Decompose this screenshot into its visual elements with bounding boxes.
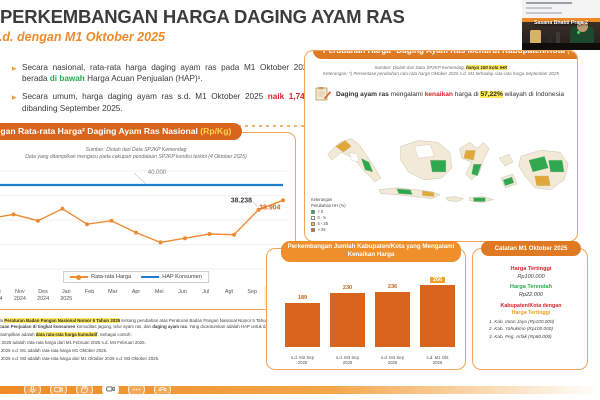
notes-card: Catatan M1 Oktober 2025 Harga Tertinggi … — [472, 248, 588, 370]
bar-value-label: 230 — [343, 285, 352, 291]
highest-price-label: Harga Tertinggi — [481, 265, 581, 273]
footnote-span: - M1 Oktober 2025 s.d. M3 adalah rata-ra… — [0, 356, 159, 361]
footnote-span: Harga Acuan Penjualan di tingkat konsume… — [0, 324, 75, 329]
legend-label: Rata-rata Harga — [91, 274, 131, 280]
x-tick-label: Apr — [124, 286, 147, 306]
participant-name-label: Sasana Bhakti Praja 2 — [522, 20, 600, 26]
x-tick-label: Jan2025 — [55, 286, 78, 306]
line-chart-source-2: Data yang ditampilkan mengacu pada cakup… — [0, 154, 295, 161]
bar-column: 230 — [330, 277, 365, 347]
bar-chart-bars: 189230236266 — [285, 277, 455, 347]
bar-value-label: 266 — [430, 277, 445, 283]
map-legend-title-2: Perubahan HH (%) — [311, 203, 346, 209]
footnote-span: - M4 Februari 2025 adalah rata-rata harg… — [0, 340, 146, 345]
toolbar-buttons — [24, 381, 171, 398]
bar-x-label: s.d. M1 Okt2025 — [420, 355, 455, 366]
list-item: 2. Kab. Yahukimo (Rp100.000) — [481, 325, 581, 333]
x-tick-label: Sep — [241, 286, 264, 306]
legend-swatch-line-icon — [70, 276, 88, 278]
map-title-main: Perubahan Harga* Daging Ayam Ras Menurut… — [323, 50, 567, 55]
page-subtitle: s.d. dengan M1 Oktober 2025 — [0, 30, 165, 44]
svg-text:38.238: 38.238 — [231, 198, 252, 205]
footnote-span: komoditas jagung, telur ayam ras, dan — [75, 324, 152, 329]
bullet-text: Secara umum, harga daging ayam ras s.d. … — [22, 91, 312, 113]
x-tick-label: Des2024 — [31, 286, 54, 306]
lowest-price-label: Harga Terendah — [481, 283, 581, 291]
map-legend: Keterangan Perubahan HH (%) < 00 - 55 - … — [311, 197, 346, 233]
desk-object-box — [530, 30, 541, 44]
line-chart-plot: 40.00038.23838.904 — [0, 165, 287, 273]
share-screen-button[interactable] — [102, 381, 119, 398]
map-legend-label: 5 - 25 — [318, 221, 328, 227]
map-legend-label: 0 - 5 — [318, 215, 326, 221]
raise-hand-button[interactable] — [76, 381, 93, 398]
footnote-span: data rata-rata harga kumulatif — [36, 332, 98, 337]
bar-chart-x-axis: s.d. M2 Sep2025s.d. M3 Sep2025s.d. M4 Se… — [285, 355, 455, 366]
desk-surface — [522, 43, 600, 50]
bullet-marker-icon: ▸ — [12, 91, 22, 113]
map-legend-row: 5 - 25 — [311, 221, 346, 227]
map-legend-swatch-icon — [311, 210, 315, 214]
map-key-post: wilayah di Indonesia — [503, 91, 564, 98]
map-card: Perubahan Harga* Daging Ayam Ras Menurut… — [304, 50, 578, 242]
x-tick-label: Okt2024 — [0, 286, 8, 306]
map-source-2: Keterangan: *) Persentase perubahan rata… — [309, 71, 573, 77]
video-feed — [522, 22, 600, 50]
bar-column: 189 — [285, 277, 320, 347]
line-chart-legend: Rata-rata Harga HAP Konsumen — [63, 271, 209, 283]
line-chart-title-main: Perkembangan Rata-rata Harga² Daging Aya… — [0, 126, 200, 136]
map-title: Perubahan Harga* Daging Ayam Ras Menurut… — [313, 50, 578, 59]
bar-x-label: s.d. M3 Sep2025 — [330, 355, 365, 366]
map-legend-items: < 00 - 55 - 25> 25 — [311, 209, 346, 233]
presentation-slide: PERKEMBANGAN HARGA DAGING AYAM RAS s.d. … — [0, 0, 600, 382]
line-chart-title-unit: (Rp/Kg) — [200, 126, 231, 136]
screen-share-icon — [106, 381, 115, 399]
line-chart-card: Perkembangan Rata-rata Harga² Daging Aya… — [0, 132, 296, 310]
map-legend-row: < 0 — [311, 209, 346, 215]
map-key-mid2: harga di — [453, 91, 481, 98]
legend-item-hap: HAP Konsumen — [141, 274, 202, 280]
page-title: PERKEMBANGAN HARGA DAGING AYAM RAS — [0, 6, 405, 28]
top-price-list: 1. Kab. Intan Jaya (Rp100.000)2. Kab. Ya… — [481, 318, 581, 341]
top-list-heading-1: Kabupaten/Kota dengan — [481, 303, 581, 310]
bullet-marker-icon: ▸ — [12, 62, 22, 84]
footnote-span: Peraturan Badan Pangan Nasional Nomor 6 … — [4, 318, 120, 323]
bar-column: 266 — [420, 277, 455, 347]
map-key-percent: 57,22% — [480, 91, 502, 98]
x-tick-label: Jun — [171, 286, 194, 306]
x-tick-label: Agt — [217, 286, 240, 306]
bar-chart-title: Perkembangan Jumlah Kabupaten/Kota yang … — [281, 241, 461, 262]
list-item: ▸ Secara nasional, rata-rata harga dagin… — [12, 62, 312, 84]
summary-bullets: ▸ Secara nasional, rata-rata harga dagin… — [12, 62, 312, 121]
map-key-mid: mengalami — [389, 91, 425, 98]
map-source: Sumber: Diolah dari Data SP2KP Kemendag,… — [309, 65, 573, 78]
x-tick-label: Jul — [194, 286, 217, 306]
dots-icon — [132, 381, 141, 399]
top-list-heading-2: Harga Tertinggi — [481, 310, 581, 317]
bullet-text-post: Harga Acuan Penjualan (HAP)¹. — [85, 74, 203, 83]
bar-value-label: 189 — [298, 295, 307, 301]
map-legend-swatch-icon — [311, 222, 315, 226]
bullet-text: Secara nasional, rata-rata harga daging … — [22, 62, 312, 84]
svg-text:40.000: 40.000 — [148, 170, 167, 176]
map-legend-swatch-icon — [311, 228, 315, 232]
x-tick-label: Feb — [78, 286, 101, 306]
x-tick-label: Mar — [101, 286, 124, 306]
line-chart-svg: 40.00038.23838.904 — [0, 165, 287, 273]
clipboard-icon — [315, 87, 331, 101]
meeting-toolbar — [0, 378, 600, 400]
map-source-1a: Sumber: Diolah dari Data SP2KP Kemendag, — [375, 65, 467, 70]
notes-card-title: Catatan M1 Oktober 2025 — [481, 241, 581, 256]
highest-price-value: Rp100.000 — [481, 273, 581, 281]
bar-x-label: s.d. M2 Sep2025 — [285, 355, 320, 366]
svg-text:38.904: 38.904 — [259, 204, 280, 211]
line-chart-source-1: Sumber: Diolah dari Data SP2KP Kemendag — [0, 147, 295, 154]
bullet-text-pre: Secara umum, harga daging ayam ras s.d. … — [22, 92, 268, 101]
bar-chart-card: Perkembangan Jumlah Kabupaten/Kota yang … — [266, 248, 466, 370]
more-options-button[interactable] — [128, 381, 145, 398]
mic-icon — [28, 381, 37, 399]
line-chart-title: Perkembangan Rata-rata Harga² Daging Aya… — [0, 123, 242, 140]
map-legend-label: > 25 — [318, 227, 326, 233]
map-key-text: Daging ayam ras mengalami kenaikan harga… — [336, 91, 564, 98]
notes-card-body: Harga Tertinggi Rp100.000 Harga Terendah… — [481, 265, 581, 341]
map-svg — [305, 103, 577, 241]
camera-icon — [54, 381, 63, 399]
bar-rect — [285, 303, 320, 347]
map-legend-row: 0 - 5 — [311, 215, 346, 221]
bullet-text-post: dibanding September 2025. — [22, 104, 123, 113]
line-chart-source: Sumber: Diolah dari Data SP2KP Kemendag … — [0, 147, 295, 162]
shared-doc-thumbnail — [522, 0, 600, 18]
map-legend-row: > 25 — [311, 227, 346, 233]
bar-rect — [330, 293, 365, 347]
bar-rect — [375, 292, 410, 347]
list-item: ▸ Secara umum, harga daging ayam ras s.d… — [12, 91, 312, 113]
map-title-unit: (%) — [567, 50, 578, 55]
legend-label: HAP Konsumen — [162, 274, 202, 280]
bar-column: 236 — [375, 277, 410, 347]
footnote-span: . Sebagai contoh: — [97, 332, 131, 337]
bullet-highlight: di bawah — [50, 74, 85, 83]
bar-value-label: 236 — [388, 284, 397, 290]
map-legend-label: < 0 — [318, 209, 324, 215]
footnote-span: - M1 Oktober 2025 s.d. M1 adalah rata-ra… — [0, 348, 107, 353]
list-item: 3. Kab. Peg. Arfak (Rp80.000) — [481, 333, 581, 341]
end-call-icon — [158, 381, 167, 399]
legend-swatch-line-icon — [141, 276, 159, 278]
x-tick-label: Mei — [148, 286, 171, 306]
legend-item-rata-rata: Rata-rata Harga — [70, 274, 131, 280]
hand-icon — [80, 381, 89, 399]
bar-rect — [420, 285, 455, 347]
bar-x-label: s.d. M4 Sep2025 — [375, 355, 410, 366]
x-tick-label: Nov2024 — [8, 286, 31, 306]
microphone-button[interactable] — [24, 381, 41, 398]
participant-video-tile[interactable]: Sasana Bhakti Praja 2 — [522, 0, 600, 50]
list-item: 1. Kab. Intan Jaya (Rp100.000) — [481, 318, 581, 326]
screen-share-view: PERKEMBANGAN HARGA DAGING AYAM RAS s.d. … — [0, 0, 600, 400]
map-source-1b: hanya 150 kota IHK — [466, 65, 507, 70]
footnote-span: ² Data yang ditampilkan adalah — [0, 332, 36, 337]
indonesia-choropleth-map — [305, 103, 577, 241]
leave-call-button[interactable] — [154, 381, 171, 398]
camera-button[interactable] — [50, 381, 67, 398]
lowest-price-value: Rp22.000 — [481, 291, 581, 299]
map-key-subject: Daging ayam ras — [336, 91, 389, 98]
footnote-span: daging ayam ras — [152, 324, 187, 329]
map-key-highlight: kenaikan — [425, 91, 453, 98]
map-legend-swatch-icon — [311, 216, 315, 220]
desk-object-mic — [548, 28, 552, 44]
line-chart-x-axis: Okt2024Nov2024Des2024Jan2025FebMarAprMei… — [0, 286, 287, 306]
map-key-message: Daging ayam ras mengalami kenaikan harga… — [315, 87, 571, 101]
status-indicator-icon — [577, 31, 580, 34]
